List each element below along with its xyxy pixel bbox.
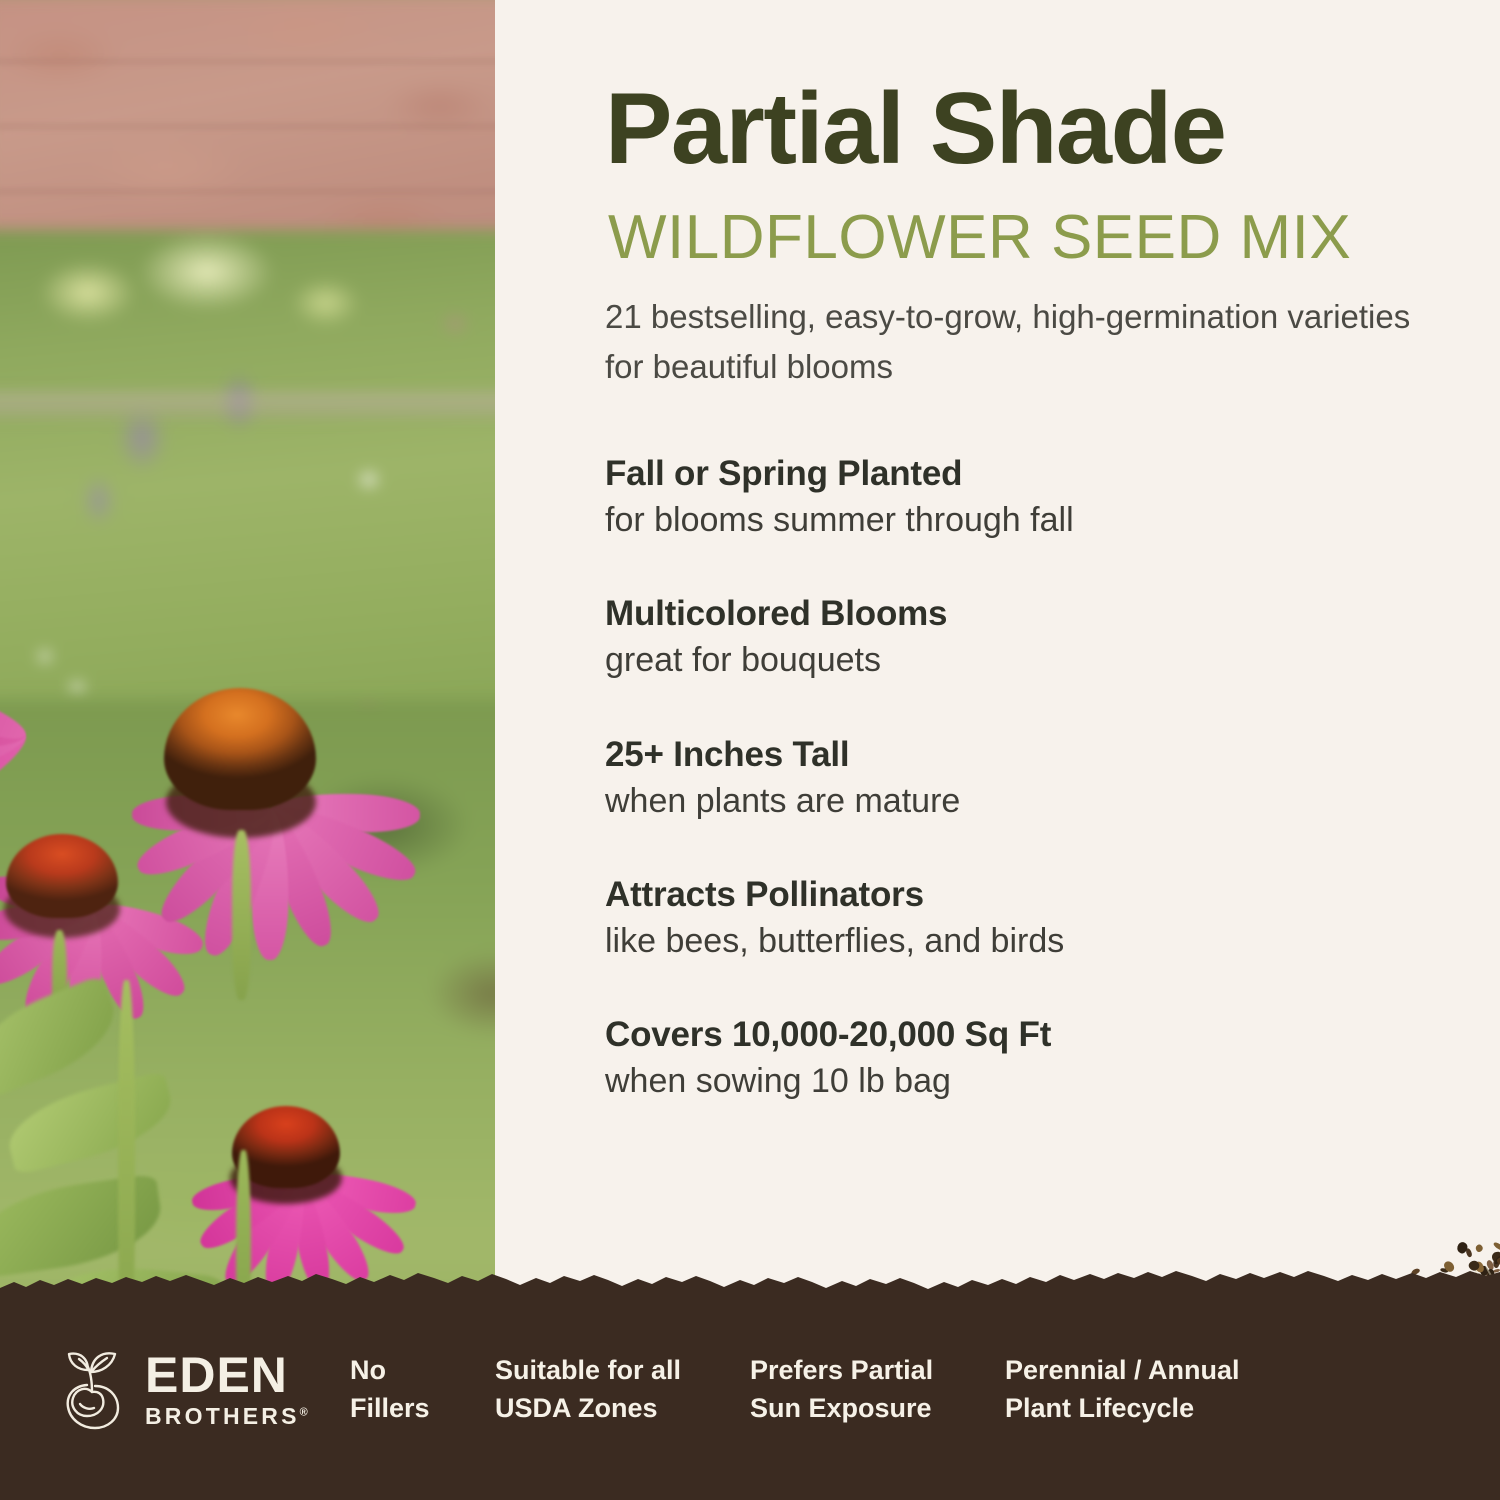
feature-title: Covers 10,000-20,000 Sq Ft <box>605 1013 1465 1057</box>
coneflower-main <box>100 640 440 980</box>
coneflower-lower <box>168 1060 428 1300</box>
feature-title: 25+ Inches Tall <box>605 733 1465 777</box>
badge-usda-zones: Suitable for all USDA Zones <box>495 1352 750 1428</box>
logo-brothers-text: BROTHERS® <box>145 1405 308 1428</box>
badge-line-1: Prefers Partial <box>750 1352 1005 1390</box>
feature-subtitle: great for bouquets <box>605 638 1465 682</box>
product-infographic: Partial Shade WILDFLOWER SEED MIX 21 bes… <box>0 0 1500 1500</box>
logo-wordmark: EDEN BROTHERS® <box>145 1351 308 1428</box>
badge-line-1: Suitable for all <box>495 1352 750 1390</box>
feature-item: Fall or Spring Planted for blooms summer… <box>605 452 1465 542</box>
feature-list: Fall or Spring Planted for blooms summer… <box>605 452 1465 1103</box>
registered-mark: ® <box>300 1406 308 1418</box>
feature-title: Fall or Spring Planted <box>605 452 1465 496</box>
feature-subtitle: for blooms summer through fall <box>605 498 1465 542</box>
badge-plant-lifecycle: Perennial / Annual Plant Lifecycle <box>1005 1352 1285 1428</box>
eden-brothers-logo: EDEN BROTHERS® <box>55 1346 308 1432</box>
badge-line-2: Plant Lifecycle <box>1005 1390 1285 1428</box>
feature-item: Covers 10,000-20,000 Sq Ft when sowing 1… <box>605 1013 1465 1103</box>
page-subtitle: WILDFLOWER SEED MIX <box>608 205 1351 270</box>
feature-subtitle: when sowing 10 lb bag <box>605 1059 1465 1103</box>
badge-line-2: Sun Exposure <box>750 1390 1005 1428</box>
seed-sprout-icon <box>55 1346 131 1432</box>
badge-line-1: No <box>350 1352 495 1390</box>
badge-line-2: USDA Zones <box>495 1390 750 1428</box>
feature-subtitle: when plants are mature <box>605 779 1465 823</box>
garden-path <box>0 392 495 418</box>
page-description: 21 bestselling, easy-to-grow, high-germi… <box>605 292 1435 392</box>
badge-no-fillers: No Fillers <box>350 1352 495 1428</box>
page-title: Partial Shade <box>605 78 1225 181</box>
torn-soil-edge <box>0 1266 1500 1306</box>
badge-line-2: Fillers <box>350 1390 495 1428</box>
badge-sun-exposure: Prefers Partial Sun Exposure <box>750 1352 1005 1428</box>
feature-title: Attracts Pollinators <box>605 873 1465 917</box>
garden-photo <box>0 0 495 1380</box>
badge-line-1: Perennial / Annual <box>1005 1352 1285 1390</box>
logo-brothers-word: BROTHERS <box>145 1403 300 1429</box>
content-panel: Partial Shade WILDFLOWER SEED MIX 21 bes… <box>495 0 1500 1380</box>
feature-subtitle: like bees, butterflies, and birds <box>605 919 1465 963</box>
feature-item: Attracts Pollinators like bees, butterfl… <box>605 873 1465 963</box>
footer-badges: No Fillers Suitable for all USDA Zones P… <box>350 1352 1285 1428</box>
feature-item: Multicolored Blooms great for bouquets <box>605 592 1465 682</box>
feature-item: 25+ Inches Tall when plants are mature <box>605 733 1465 823</box>
logo-eden-text: EDEN <box>145 1351 308 1400</box>
feature-title: Multicolored Blooms <box>605 592 1465 636</box>
footer-bar: EDEN BROTHERS® No Fillers Suitable for a… <box>0 1300 1500 1500</box>
